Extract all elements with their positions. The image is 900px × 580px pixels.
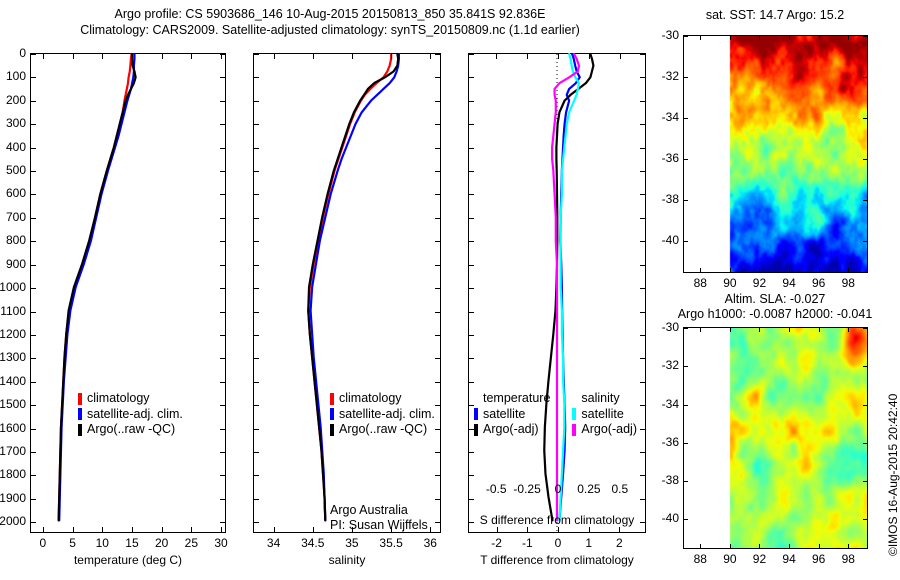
- axis-tick: [253, 382, 259, 383]
- depth-tick-label: 800: [0, 233, 26, 247]
- map-axis-tick: [759, 327, 760, 332]
- axis-tick: [220, 312, 226, 313]
- axis-tick: [253, 522, 259, 523]
- map-axis-tick: [759, 268, 760, 273]
- latitude-tick-label: -32: [647, 358, 679, 372]
- legend-label: Argo(-adj): [581, 422, 637, 438]
- depth-tick-label: 700: [0, 210, 26, 224]
- latitude-tick-label: -36: [647, 151, 679, 165]
- salinity-difference-tick-label: 0.5: [595, 482, 645, 496]
- axis-tick: [253, 101, 259, 102]
- map-axis-tick: [863, 36, 868, 37]
- axis-tick: [640, 148, 646, 149]
- axis-tick: [30, 429, 36, 430]
- axis-tick: [435, 382, 441, 383]
- map-axis-tick: [700, 35, 701, 40]
- axis-tick: [220, 77, 226, 78]
- sla-map-title-line-2: Argo h1000: -0.0087 h2000: -0.041: [655, 307, 895, 321]
- axis-tick: [640, 124, 646, 125]
- legend-swatch-temperature-satellite: [474, 408, 478, 420]
- map-axis-tick: [863, 443, 868, 444]
- axis-tick: [30, 101, 36, 102]
- axis-tick: [468, 148, 474, 149]
- axis-tick: [30, 171, 36, 172]
- axis-tick: [468, 452, 474, 453]
- map-axis-tick: [819, 268, 820, 273]
- map-axis-tick: [789, 268, 790, 273]
- axis-tick: [220, 429, 226, 430]
- legend-swatch-salinity-satellite: [572, 408, 576, 420]
- map-axis-tick: [863, 77, 868, 78]
- legend-item: satellite: [474, 407, 550, 423]
- legend-label: climatology: [87, 391, 150, 407]
- map-axis-tick: [683, 328, 688, 329]
- axis-tick: [220, 475, 226, 476]
- depth-tick-label: 2000: [0, 514, 26, 528]
- axis-tick: [640, 171, 646, 172]
- axis-tick: [191, 53, 192, 59]
- axis-tick: [435, 101, 441, 102]
- axis-tick-label: 30: [196, 536, 246, 550]
- axis-tick: [640, 194, 646, 195]
- map-axis-tick: [863, 200, 868, 201]
- map-axis-tick: [683, 159, 688, 160]
- axis-tick: [435, 218, 441, 219]
- map-axis-tick: [848, 35, 849, 40]
- axis-tick: [497, 527, 498, 533]
- axis-tick: [30, 405, 36, 406]
- map-axis-tick: [848, 327, 849, 332]
- map-axis-tick: [683, 200, 688, 201]
- axis-tick: [30, 452, 36, 453]
- axis-tick: [30, 124, 36, 125]
- axis-tick: [640, 335, 646, 336]
- salinity-difference-axis-label: S difference from climatology: [462, 513, 652, 527]
- map-axis-tick: [683, 77, 688, 78]
- depth-tick-label: 100: [0, 69, 26, 83]
- map-axis-tick: [700, 327, 701, 332]
- axis-tick: [313, 527, 314, 533]
- latitude-tick-label: -30: [647, 320, 679, 334]
- legend-column-header-salinity: salinity: [572, 391, 637, 407]
- axis-tick: [468, 101, 474, 102]
- legend-item: climatology: [78, 391, 183, 407]
- legend-label: satellite-adj. clim.: [87, 407, 183, 423]
- axis-tick: [640, 241, 646, 242]
- axis-tick: [221, 53, 222, 59]
- axis-tick: [220, 358, 226, 359]
- map-axis-tick: [683, 241, 688, 242]
- axis-tick: [558, 527, 559, 533]
- axis-tick: [30, 218, 36, 219]
- axis-tick: [221, 527, 222, 533]
- axis-tick: [435, 77, 441, 78]
- axis-tick: [640, 77, 646, 78]
- axis-tick: [253, 499, 259, 500]
- axis-tick: [640, 452, 646, 453]
- map-axis-tick: [863, 118, 868, 119]
- title-line-1: Argo profile: CS 5903686_146 10-Aug-2015…: [0, 6, 660, 22]
- axis-tick: [253, 124, 259, 125]
- axis-tick: [430, 53, 431, 59]
- axis-tick: [253, 265, 259, 266]
- axis-tick: [640, 358, 646, 359]
- axis-tick: [640, 382, 646, 383]
- latitude-tick-label: -34: [647, 110, 679, 124]
- salinity-profile-panel: [253, 53, 441, 533]
- axis-tick: [589, 527, 590, 533]
- attribution-pi: PI: Susan Wijffels: [330, 518, 428, 533]
- map-axis-tick: [863, 241, 868, 242]
- axis-tick: [640, 499, 646, 500]
- depth-tick-label: 1300: [0, 350, 26, 364]
- axis-tick: [640, 265, 646, 266]
- legend-label: satellite-adj. clim.: [339, 407, 435, 423]
- axis-tick: [30, 522, 36, 523]
- latitude-tick-label: -32: [647, 69, 679, 83]
- temperature-profile-panel: [30, 53, 226, 533]
- axis-tick: [253, 148, 259, 149]
- map-axis-tick: [700, 268, 701, 273]
- map-axis-tick: [863, 519, 868, 520]
- depth-tick-label: 1200: [0, 327, 26, 341]
- map-axis-tick: [683, 118, 688, 119]
- title-line-2: Climatology: CARS2009. Satellite-adjuste…: [0, 22, 660, 38]
- map-axis-tick: [789, 327, 790, 332]
- depth-tick-label: 1100: [0, 304, 26, 318]
- legend-item: satellite-adj. clim.: [330, 407, 435, 423]
- axis-tick: [435, 358, 441, 359]
- map-axis-tick: [819, 327, 820, 332]
- axis-tick: [30, 77, 36, 78]
- axis-tick: [162, 527, 163, 533]
- axis-tick: [253, 475, 259, 476]
- legend-item: Argo(-adj): [474, 422, 550, 438]
- axis-tick: [220, 522, 226, 523]
- sla-map-title-line-1: Altim. SLA: -0.027: [655, 292, 895, 306]
- axis-tick: [527, 527, 528, 533]
- depth-tick-label: 200: [0, 93, 26, 107]
- axis-tick: [527, 53, 528, 59]
- legend-label: Argo(..raw -QC): [339, 422, 427, 438]
- latitude-tick-label: -40: [647, 233, 679, 247]
- axis-tick: [220, 499, 226, 500]
- map-axis-tick: [789, 544, 790, 549]
- map-axis-tick: [730, 327, 731, 332]
- axis-tick: [468, 288, 474, 289]
- axis-tick: [30, 335, 36, 336]
- depth-tick-label: 400: [0, 140, 26, 154]
- depth-tick-label: 1600: [0, 421, 26, 435]
- axis-tick: [435, 54, 441, 55]
- map-axis-tick: [700, 544, 701, 549]
- axis-tick: [313, 53, 314, 59]
- map-axis-tick: [863, 481, 868, 482]
- salinity-profile-plot: [254, 54, 440, 532]
- legend-item: satellite: [572, 407, 637, 423]
- axis-tick: [30, 148, 36, 149]
- map-axis-tick: [683, 36, 688, 37]
- axis-tick: [589, 53, 590, 59]
- axis-tick: [220, 124, 226, 125]
- axis-tick: [220, 218, 226, 219]
- axis-tick: [468, 475, 474, 476]
- axis-tick: [30, 358, 36, 359]
- depth-tick-label: 1800: [0, 467, 26, 481]
- map-axis-tick: [789, 35, 790, 40]
- temperature-legend: climatology satellite-adj. clim. Argo(..…: [78, 391, 183, 438]
- axis-tick: [132, 53, 133, 59]
- axis-tick: [435, 288, 441, 289]
- axis-tick: [640, 288, 646, 289]
- temperature-difference-axis-label: T difference from climatology: [462, 553, 652, 567]
- depth-tick-label: 600: [0, 186, 26, 200]
- axis-tick: [435, 429, 441, 430]
- map-axis-tick: [683, 519, 688, 520]
- legend-item: Argo(-adj): [572, 422, 637, 438]
- axis-tick: [435, 241, 441, 242]
- map-axis-tick: [683, 443, 688, 444]
- axis-tick: [253, 77, 259, 78]
- axis-tick: [468, 171, 474, 172]
- sla-map-canvas: [684, 328, 868, 549]
- map-axis-tick: [819, 35, 820, 40]
- axis-tick: [220, 101, 226, 102]
- axis-tick: [102, 527, 103, 533]
- legend-swatch-salinity-argo: [572, 424, 576, 436]
- map-axis-tick: [848, 544, 849, 549]
- attribution-program: Argo Australia: [330, 503, 428, 518]
- axis-tick: [253, 171, 259, 172]
- axis-tick: [435, 171, 441, 172]
- axis-tick: [30, 288, 36, 289]
- axis-tick: [435, 194, 441, 195]
- axis-tick: [435, 124, 441, 125]
- axis-tick: [30, 499, 36, 500]
- axis-tick: [468, 218, 474, 219]
- axis-tick: [274, 527, 275, 533]
- map-axis-tick: [683, 405, 688, 406]
- axis-tick: [640, 101, 646, 102]
- temperature-profile-plot: [31, 54, 225, 532]
- axis-tick: [220, 335, 226, 336]
- depth-tick-label: 1400: [0, 374, 26, 388]
- axis-tick: [253, 335, 259, 336]
- axis-tick: [73, 53, 74, 59]
- figure-root: Argo profile: CS 5903686_146 10-Aug-2015…: [0, 0, 900, 580]
- axis-tick: [162, 53, 163, 59]
- axis-tick: [220, 171, 226, 172]
- axis-tick: [468, 312, 474, 313]
- axis-tick: [274, 53, 275, 59]
- axis-tick: [468, 194, 474, 195]
- legend-label: climatology: [339, 391, 402, 407]
- axis-tick: [220, 241, 226, 242]
- legend-swatch-argo: [330, 424, 334, 436]
- axis-tick-label: 36: [405, 536, 455, 550]
- map-axis-tick: [863, 328, 868, 329]
- legend-item: Argo(..raw -QC): [78, 422, 183, 438]
- depth-tick-label: 0: [0, 46, 26, 60]
- salinity-axis-label: salinity: [253, 553, 441, 567]
- axis-tick: [430, 527, 431, 533]
- difference-legend-salinity-column: salinity satellite Argo(-adj): [572, 391, 637, 438]
- temperature-axis-label: temperature (deg C): [30, 553, 226, 567]
- axis-tick: [220, 452, 226, 453]
- axis-tick: [435, 522, 441, 523]
- axis-tick: [220, 148, 226, 149]
- difference-legend-temperature-column: temperature satellite Argo(-adj): [474, 391, 550, 438]
- axis-tick: [253, 194, 259, 195]
- axis-tick: [468, 382, 474, 383]
- axis-tick: [468, 265, 474, 266]
- legend-label: Argo(-adj): [483, 422, 539, 438]
- axis-tick: [391, 53, 392, 59]
- legend-item: Argo(..raw -QC): [330, 422, 435, 438]
- axis-tick: [619, 527, 620, 533]
- axis-tick: [558, 53, 559, 59]
- axis-tick: [43, 53, 44, 59]
- axis-tick: [468, 335, 474, 336]
- map-axis-tick: [683, 366, 688, 367]
- legend-label: Argo(..raw -QC): [87, 422, 175, 438]
- axis-tick: [220, 382, 226, 383]
- axis-tick: [468, 124, 474, 125]
- axis-tick: [253, 429, 259, 430]
- map-axis-tick: [848, 268, 849, 273]
- legend-swatch-satellite-adj: [78, 408, 82, 420]
- axis-tick-label: 2: [594, 536, 644, 550]
- depth-tick-label: 1700: [0, 444, 26, 458]
- map-axis-tick: [819, 544, 820, 549]
- depth-tick-label: 900: [0, 257, 26, 271]
- axis-tick: [30, 312, 36, 313]
- axis-tick: [468, 54, 474, 55]
- axis-tick: [435, 452, 441, 453]
- axis-tick: [191, 527, 192, 533]
- axis-tick: [468, 499, 474, 500]
- legend-item: satellite-adj. clim.: [78, 407, 183, 423]
- map-axis-tick: [730, 268, 731, 273]
- axis-tick: [435, 312, 441, 313]
- latitude-tick-label: -34: [647, 397, 679, 411]
- sla-map: [683, 327, 868, 549]
- axis-tick: [468, 358, 474, 359]
- axis-tick: [352, 53, 353, 59]
- difference-profile-plot: [469, 54, 645, 532]
- attribution-block: Argo Australia PI: Susan Wijffels: [330, 503, 428, 533]
- axis-tick: [220, 265, 226, 266]
- axis-tick: [253, 288, 259, 289]
- axis-tick: [253, 405, 259, 406]
- axis-tick: [30, 265, 36, 266]
- axis-tick: [220, 194, 226, 195]
- axis-tick: [73, 527, 74, 533]
- axis-tick: [30, 194, 36, 195]
- depth-tick-label: 1500: [0, 397, 26, 411]
- salinity-legend: climatology satellite-adj. clim. Argo(..…: [330, 391, 435, 438]
- legend-swatch-climatology: [78, 393, 82, 405]
- axis-tick: [435, 148, 441, 149]
- latitude-tick-label: -40: [647, 511, 679, 525]
- axis-tick: [30, 54, 36, 55]
- latitude-tick-label: -36: [647, 435, 679, 449]
- map-axis-tick: [683, 481, 688, 482]
- sst-map-canvas: [684, 36, 868, 273]
- legend-label: satellite: [483, 407, 525, 423]
- axis-tick: [30, 475, 36, 476]
- legend-swatch-climatology: [330, 393, 334, 405]
- axis-tick: [496, 53, 497, 59]
- axis-tick: [253, 241, 259, 242]
- legend-column-header-temperature: temperature: [474, 391, 550, 407]
- legend-swatch-temperature-argo: [474, 424, 478, 436]
- depth-tick-label: 500: [0, 163, 26, 177]
- axis-tick: [435, 499, 441, 500]
- depth-tick-label: 1000: [0, 280, 26, 294]
- difference-legend: temperature satellite Argo(-adj) salinit…: [474, 391, 637, 438]
- legend-label: satellite: [581, 407, 623, 423]
- axis-tick: [30, 382, 36, 383]
- longitude-tick-label: 98: [828, 552, 868, 566]
- copyright-label: ©IMOS 16-Aug-2015 20:42:40: [886, 394, 900, 556]
- axis-tick: [43, 527, 44, 533]
- sst-map: [683, 35, 868, 273]
- map-axis-tick: [863, 159, 868, 160]
- axis-tick: [253, 452, 259, 453]
- axis-tick: [435, 405, 441, 406]
- axis-tick: [253, 218, 259, 219]
- map-axis-tick: [863, 405, 868, 406]
- latitude-tick-label: -38: [647, 473, 679, 487]
- map-axis-tick: [730, 35, 731, 40]
- axis-tick: [640, 54, 646, 55]
- axis-tick: [620, 53, 621, 59]
- longitude-tick-label: 98: [828, 276, 868, 290]
- legend-item: climatology: [330, 391, 435, 407]
- axis-tick: [102, 53, 103, 59]
- axis-tick: [640, 475, 646, 476]
- map-axis-tick: [863, 366, 868, 367]
- axis-tick: [253, 312, 259, 313]
- axis-tick: [468, 241, 474, 242]
- axis-tick: [30, 241, 36, 242]
- axis-tick: [220, 405, 226, 406]
- axis-tick: [435, 475, 441, 476]
- axis-tick: [253, 358, 259, 359]
- depth-tick-label: 300: [0, 116, 26, 130]
- map-axis-tick: [730, 544, 731, 549]
- axis-tick: [435, 335, 441, 336]
- sst-map-title: sat. SST: 14.7 Argo: 15.2: [655, 8, 895, 22]
- axis-tick: [132, 527, 133, 533]
- axis-tick: [220, 288, 226, 289]
- axis-tick: [640, 429, 646, 430]
- map-axis-tick: [759, 35, 760, 40]
- legend-swatch-satellite-adj: [330, 408, 334, 420]
- axis-tick: [435, 265, 441, 266]
- depth-tick-label: 1900: [0, 491, 26, 505]
- map-axis-tick: [759, 544, 760, 549]
- axis-tick: [640, 405, 646, 406]
- axis-tick: [468, 77, 474, 78]
- axis-tick: [640, 218, 646, 219]
- latitude-tick-label: -38: [647, 192, 679, 206]
- axis-tick: [253, 54, 259, 55]
- axis-tick: [640, 312, 646, 313]
- latitude-tick-label: -30: [647, 28, 679, 42]
- difference-profile-panel: [468, 53, 646, 533]
